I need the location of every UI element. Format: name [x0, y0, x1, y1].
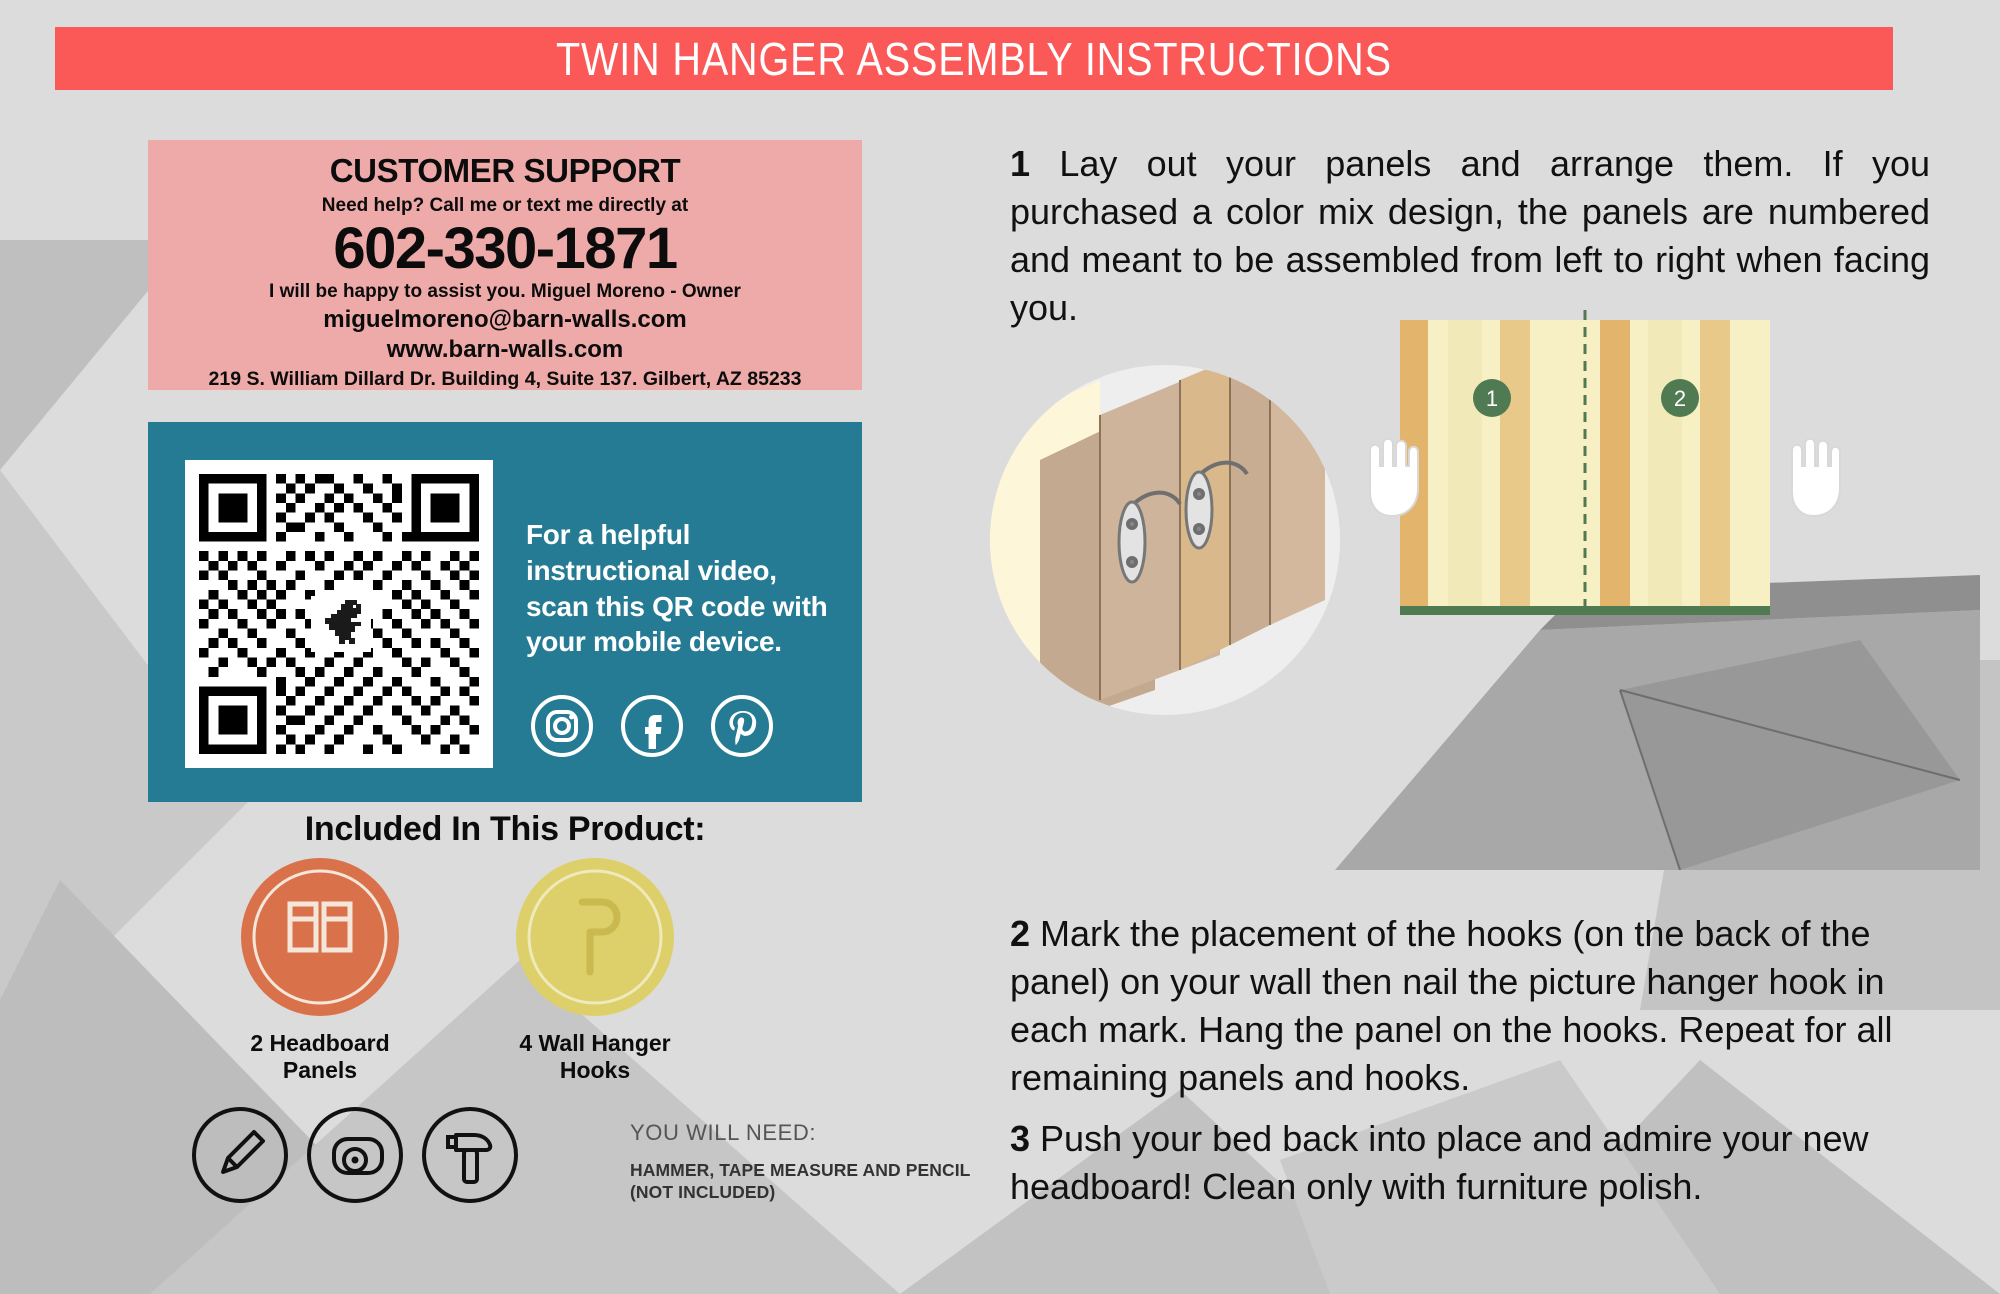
tape-measure-icon [305, 1105, 405, 1205]
instruction-step-1: 1 Lay out your panels and arrange them. … [1010, 140, 1930, 332]
support-title: CUSTOMER SUPPORT [148, 152, 862, 190]
support-subtitle: Need help? Call me or text me directly a… [148, 195, 862, 217]
social-links [530, 694, 774, 758]
product-item-wall-hanger-hooks: 4 Wall Hanger Hooks [495, 858, 695, 1084]
step-number: 1 [1010, 143, 1030, 184]
instagram-icon[interactable] [530, 694, 594, 758]
included-title: Included In This Product: [148, 810, 862, 849]
instruction-step-3: 3 Push your bed back into place and admi… [1010, 1115, 1930, 1211]
support-email[interactable]: miguelmoreno@barn-walls.com [148, 305, 862, 335]
product-item-headboard-panels: 2 Headboard Panels [220, 858, 420, 1084]
step-text: Mark the placement of the hooks (on the … [1010, 913, 1893, 1098]
hand-left-icon [1370, 439, 1418, 516]
headboard-panels-illustration: 1 2 [1400, 310, 1770, 615]
qr-instruction-text: For a helpful instructional video, scan … [526, 517, 846, 660]
step-text: Lay out your panels and arrange them. If… [1010, 143, 1930, 328]
svg-text:1: 1 [1486, 386, 1498, 411]
customer-support-box: CUSTOMER SUPPORT Need help? Call me or t… [148, 140, 862, 390]
panels-circle [241, 858, 399, 1016]
hooks-circle [516, 858, 674, 1016]
facebook-icon[interactable] [620, 694, 684, 758]
hammer-icon [420, 1105, 520, 1205]
panels-icon [241, 858, 399, 1016]
step-text: Push your bed back into place and admire… [1010, 1118, 1869, 1207]
hook-icon [516, 858, 674, 1016]
dinosaur-icon [311, 596, 371, 652]
product-label: 4 Wall Hanger Hooks [495, 1030, 695, 1084]
hand-right-icon [1792, 439, 1840, 516]
step-number: 2 [1010, 913, 1030, 954]
assembly-illustration: 1 2 [980, 310, 1980, 870]
pencil-icon [190, 1105, 290, 1205]
instruction-step-2: 2 Mark the placement of the hooks (on th… [1010, 910, 1930, 1102]
you-will-need-heading: YOU WILL NEED: [630, 1120, 816, 1146]
qr-video-box: For a helpful instructional video, scan … [148, 422, 862, 802]
support-website[interactable]: www.barn-walls.com [148, 335, 862, 365]
qr-code[interactable] [185, 460, 493, 768]
step-number: 3 [1010, 1118, 1030, 1159]
pinterest-icon[interactable] [710, 694, 774, 758]
you-will-need-body: HAMMER, TAPE MEASURE AND PENCIL (NOT INC… [630, 1160, 990, 1204]
product-label: 2 Headboard Panels [220, 1030, 420, 1084]
wall-hooks-inset [980, 315, 1380, 750]
support-phone[interactable]: 602-330-1871 [148, 219, 862, 280]
svg-text:2: 2 [1674, 386, 1686, 411]
right-column: 1 Lay out your panels and arrange them. … [1000, 0, 2000, 1294]
support-address: 219 S. William Dillard Dr. Building 4, S… [148, 368, 862, 391]
support-owner-line: I will be happy to assist you. Miguel Mo… [148, 280, 862, 305]
left-column: CUSTOMER SUPPORT Need help? Call me or t… [0, 0, 870, 1294]
